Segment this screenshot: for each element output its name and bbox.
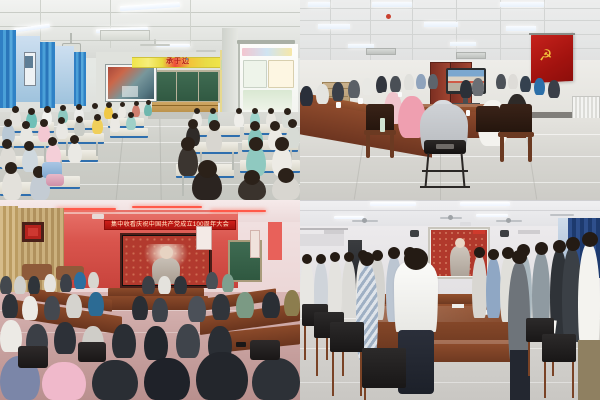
backpack <box>46 174 64 186</box>
wall-speaker <box>410 230 419 237</box>
attendee <box>496 74 506 89</box>
window-curtain <box>40 42 55 108</box>
event-banner-text: 集中收看庆祝中国共产党成立100周年大会 <box>106 220 234 230</box>
window <box>55 46 74 104</box>
student <box>234 112 244 127</box>
audience-member <box>174 276 187 294</box>
air-vent <box>366 48 396 55</box>
ceiling-wash-light <box>210 210 266 212</box>
collage-panel-bottom-left: 集中收看庆祝中国共产党成立100周年大会 <box>0 200 300 400</box>
window-curtain <box>0 30 16 108</box>
attendee <box>534 78 545 95</box>
ceiling-fan-hub <box>448 215 453 220</box>
projector <box>92 214 104 219</box>
hammer-and-sickle-icon: ☭ <box>539 48 554 65</box>
student <box>206 128 222 152</box>
wall-banner-text: 承于边 <box>152 57 204 66</box>
attendee <box>362 78 373 95</box>
ceiling-light-panel <box>424 22 458 27</box>
paper-cup <box>336 102 341 108</box>
ceiling-fan <box>550 214 574 216</box>
attendee-foreground <box>394 262 438 332</box>
collage-panel-bottom-right: Staff standing at attention around a pol… <box>300 200 600 400</box>
air-vent <box>456 52 486 59</box>
student <box>2 170 22 200</box>
ceiling-light-panel <box>500 2 544 7</box>
ceiling-fan-hub <box>506 218 511 223</box>
paper-cup <box>398 92 402 97</box>
ceiling-light-panel <box>308 2 330 7</box>
attendee <box>300 86 313 106</box>
attendee <box>460 80 472 98</box>
paper-cup <box>466 110 470 116</box>
armchair[interactable] <box>500 104 532 134</box>
chair[interactable] <box>18 346 48 368</box>
student <box>126 116 136 130</box>
attendee <box>548 80 560 98</box>
student <box>68 142 82 163</box>
chair[interactable] <box>250 340 280 360</box>
chair[interactable] <box>78 342 106 362</box>
attendee <box>348 80 360 98</box>
chair[interactable] <box>362 348 406 388</box>
ceiling-light <box>476 214 508 217</box>
attendee <box>472 78 484 96</box>
photo-collage: 承于边 <box>0 0 600 400</box>
ceiling-wash-light <box>132 206 202 208</box>
collage-panel-top-right: ☭ <box>300 0 600 200</box>
chalkboard <box>152 70 220 103</box>
ceiling-light-panel <box>506 26 536 31</box>
window-curtain <box>74 52 86 106</box>
smoke-detector <box>386 14 391 19</box>
attendee <box>316 84 329 104</box>
ceiling-fan-hub <box>362 218 367 223</box>
armchair[interactable] <box>476 106 500 132</box>
student <box>118 106 126 118</box>
student <box>144 104 152 116</box>
ceiling-light <box>334 216 364 219</box>
attendee-standing <box>328 260 342 316</box>
audience-member <box>88 292 104 316</box>
audience-member <box>284 290 300 316</box>
ceiling-light-panel <box>318 24 350 29</box>
collage-panel-top-left: 承于边 <box>0 0 300 200</box>
paper-cup <box>358 98 363 104</box>
ceiling-light-panel <box>372 2 412 7</box>
chair[interactable] <box>542 334 576 362</box>
student <box>110 117 120 132</box>
ceiling-wash-light <box>56 208 116 210</box>
student <box>56 122 68 139</box>
water-bottle <box>380 118 385 132</box>
ceiling-fan <box>154 39 156 45</box>
attendee-standing <box>342 260 356 318</box>
attendee <box>428 74 438 89</box>
ceiling-light-panel <box>450 42 476 46</box>
chair[interactable] <box>330 322 364 352</box>
audience-member <box>132 296 148 320</box>
document <box>452 304 464 308</box>
wall-speaker <box>500 230 509 237</box>
attendee-standing <box>578 244 600 354</box>
attendee-standing <box>486 258 501 318</box>
attendee <box>332 82 344 101</box>
attendee-standing <box>472 256 487 318</box>
ceiling-light <box>460 202 510 206</box>
ceiling-light <box>370 202 416 206</box>
